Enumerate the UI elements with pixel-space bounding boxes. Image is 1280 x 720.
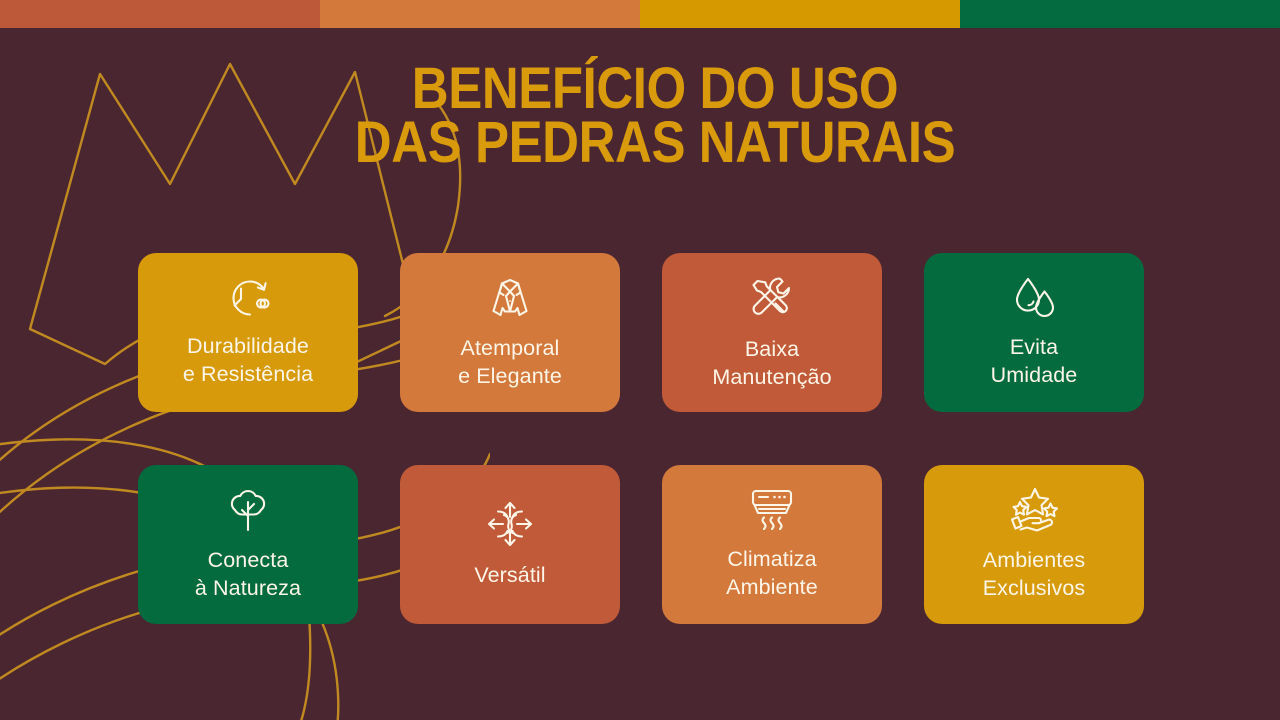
benefit-card-climatiza-ambiente[interactable]: Climatiza Ambiente <box>662 465 882 624</box>
benefit-card-label: Durabilidade e Resistência <box>183 333 313 388</box>
benefit-card-label: Ambientes Exclusivos <box>983 547 1086 602</box>
benefit-card-ambientes-exclusivos[interactable]: Ambientes Exclusivos <box>924 465 1144 624</box>
hand-stars-icon <box>1007 485 1061 535</box>
benefit-card-versatil[interactable]: Versátil <box>400 465 620 624</box>
segment-gold <box>640 0 960 28</box>
benefit-card-label: Versátil <box>474 562 545 589</box>
benefit-card-label: Conecta à Natureza <box>195 547 301 602</box>
slide-canvas: BENEFÍCIO DO USO DAS PEDRAS NATURAIS Dur… <box>0 0 1280 720</box>
benefit-card-conecta-natureza[interactable]: Conecta à Natureza <box>138 465 358 624</box>
segment-terracotta <box>0 0 320 28</box>
benefit-card-label: Baixa Manutenção <box>712 336 831 391</box>
tree-icon <box>223 485 273 535</box>
segment-orange <box>320 0 640 28</box>
page-title-line-1: BENEFÍCIO DO USO <box>105 62 1205 116</box>
benefit-card-label: Climatiza Ambiente <box>726 546 818 601</box>
top-color-strip <box>0 0 1280 28</box>
page-title-line-2: DAS PEDRAS NATURAIS <box>105 116 1205 170</box>
wrench-screwdriver-icon <box>746 272 798 324</box>
benefit-card-atemporal[interactable]: Atemporal e Elegante <box>400 253 620 412</box>
air-conditioner-icon <box>745 486 799 534</box>
benefit-card-label: Atemporal e Elegante <box>458 335 562 390</box>
clock-infinity-icon <box>219 275 277 321</box>
water-drops-icon <box>1011 274 1057 322</box>
benefit-card-baixa-manutencao[interactable]: Baixa Manutenção <box>662 253 882 412</box>
segment-green <box>960 0 1280 28</box>
benefit-card-label: Evita Umidade <box>991 334 1078 389</box>
four-way-arrows-icon <box>484 498 536 550</box>
benefit-card-durabilidade[interactable]: Durabilidade e Resistência <box>138 253 358 412</box>
suit-jacket-icon <box>485 273 535 323</box>
page-title: BENEFÍCIO DO USO DAS PEDRAS NATURAIS <box>0 62 1280 170</box>
benefits-grid: Durabilidade e ResistênciaAtemporal e El… <box>138 253 1144 624</box>
benefit-card-evita-umidade[interactable]: Evita Umidade <box>924 253 1144 412</box>
